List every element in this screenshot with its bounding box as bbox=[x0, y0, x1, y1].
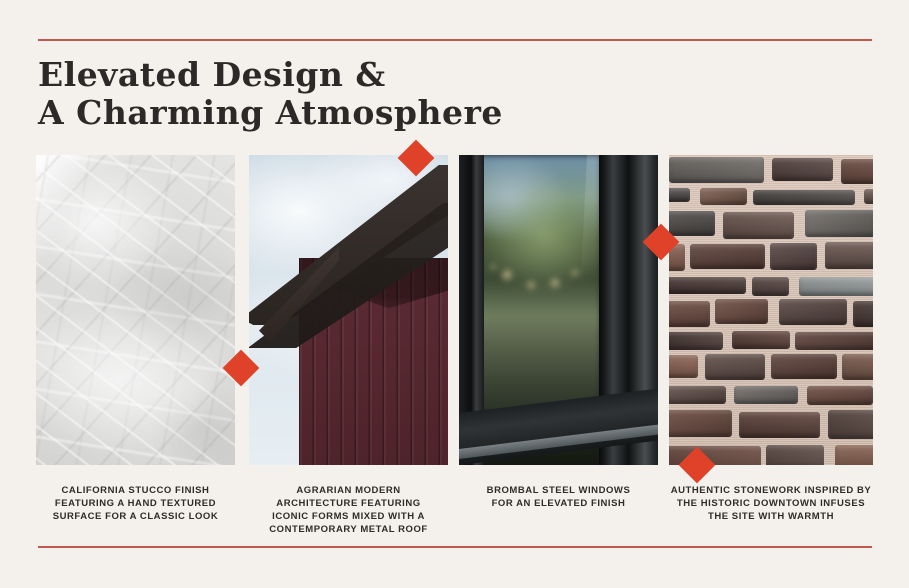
slide-canvas: Elevated Design & A Charming Atmosphere bbox=[0, 0, 909, 588]
stone-block bbox=[807, 386, 873, 405]
stone-block bbox=[669, 355, 698, 378]
stone-block bbox=[705, 354, 765, 380]
stone-block bbox=[669, 211, 715, 236]
caption-barn: AGRARIAN MODERN ARCHITECTURE FEATURING I… bbox=[249, 484, 448, 536]
stone-block bbox=[752, 277, 789, 296]
image-panel-window[interactable] bbox=[459, 155, 658, 465]
stone-block bbox=[766, 445, 824, 465]
image-panel-stucco[interactable] bbox=[36, 155, 235, 465]
stone-block bbox=[772, 158, 833, 181]
image-panel-barn[interactable] bbox=[249, 155, 448, 465]
stone-block bbox=[841, 159, 873, 184]
stone-block bbox=[825, 242, 873, 269]
stonework-photo-image bbox=[669, 155, 873, 465]
stone-block bbox=[732, 331, 790, 349]
stone-block bbox=[842, 354, 873, 380]
caption-stone: AUTHENTIC STONEWORK INSPIRED BY THE HIST… bbox=[669, 484, 873, 523]
stone-block bbox=[690, 244, 765, 269]
stone-block bbox=[669, 332, 723, 350]
stone-block bbox=[669, 410, 732, 437]
stone-block bbox=[669, 188, 690, 202]
stone-block bbox=[779, 299, 847, 325]
stone-block bbox=[723, 212, 794, 239]
stone-block bbox=[828, 410, 873, 439]
stone-block bbox=[669, 386, 726, 404]
stone-block bbox=[853, 301, 873, 327]
stone-block bbox=[771, 354, 837, 379]
stone-block bbox=[835, 445, 873, 465]
stone-block bbox=[700, 188, 747, 205]
stucco-texture-image bbox=[36, 155, 235, 465]
stone-block bbox=[715, 299, 768, 324]
stone-block bbox=[734, 386, 798, 404]
steel-window-photo-image bbox=[459, 155, 658, 465]
barn-photo-image bbox=[249, 155, 448, 465]
stone-block bbox=[669, 301, 710, 327]
stone-block bbox=[669, 157, 764, 183]
stone-block bbox=[864, 189, 873, 204]
image-panel-stone[interactable] bbox=[669, 155, 873, 465]
stone-block bbox=[669, 277, 746, 294]
caption-stucco: CALIFORNIA STUCCO FINISH FEATURING A HAN… bbox=[36, 484, 235, 523]
stone-block bbox=[739, 412, 820, 438]
caption-window: BROMBAL STEEL WINDOWS FOR AN ELEVATED FI… bbox=[459, 484, 658, 510]
stone-block bbox=[753, 190, 855, 205]
stone-block bbox=[770, 243, 817, 270]
stone-block bbox=[799, 277, 873, 296]
stone-block bbox=[795, 332, 873, 350]
stone-block bbox=[805, 210, 873, 237]
